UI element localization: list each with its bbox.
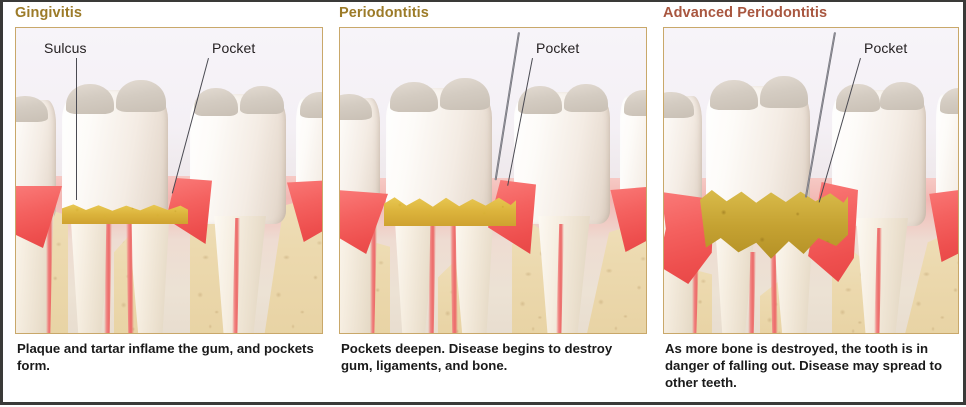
panel-gingivitis: Gingivitis xyxy=(9,2,331,407)
illustration-gingivitis: Sulcus Pocket xyxy=(15,27,323,334)
leader-line-sulcus xyxy=(76,58,77,200)
panel-title-gingivitis: Gingivitis xyxy=(15,5,82,21)
panel-title-periodontitis: Periodontitis xyxy=(339,5,429,21)
annotation-label-pocket: Pocket xyxy=(212,40,255,56)
panel-title-advanced-periodontitis: Advanced Periodontitis xyxy=(663,5,827,21)
illustration-periodontitis: Pocket xyxy=(339,27,647,334)
annotation-label-sulcus: Sulcus xyxy=(44,40,87,56)
periodontal-disease-figure: Gingivitis xyxy=(0,0,966,405)
caption-advanced-periodontitis: As more bone is destroyed, the tooth is … xyxy=(665,340,961,391)
panel-advanced-periodontitis: Advanced Periodontitis xyxy=(657,2,963,407)
illustration-advanced-periodontitis: Pocket xyxy=(663,27,959,334)
caption-periodontitis: Pockets deepen. Disease begins to destro… xyxy=(341,340,641,374)
annotation-label-pocket: Pocket xyxy=(536,40,579,56)
caption-gingivitis: Plaque and tartar inflame the gum, and p… xyxy=(17,340,317,374)
annotation-label-pocket: Pocket xyxy=(864,40,907,56)
panel-periodontitis: Periodontitis xyxy=(333,2,655,407)
